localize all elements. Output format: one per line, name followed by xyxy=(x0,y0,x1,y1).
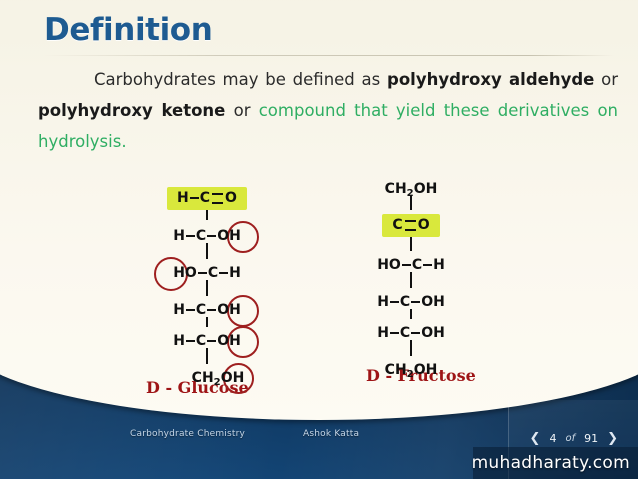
fructose-row-2-center: C xyxy=(392,217,402,233)
bond-single-icon xyxy=(207,309,216,311)
paragraph-bold-2: polyhydroxy ketone xyxy=(38,101,225,120)
bond-vertical-icon xyxy=(206,280,208,296)
footer-course-title: Carbohydrate Chemistry xyxy=(130,429,245,439)
fructose-row-3-center: C xyxy=(412,257,422,273)
slide-background-cream xyxy=(0,0,638,420)
glucose-row-3-right: H xyxy=(229,265,241,281)
glucose-row-3-left: HO xyxy=(173,265,197,281)
fructose-row-4-right: OH xyxy=(421,294,445,310)
fructose-row-5-center: C xyxy=(400,325,410,341)
bond-single-icon xyxy=(207,340,216,342)
fructose-row-2: CO xyxy=(336,213,486,238)
glucose-row-6-group: CH2OH xyxy=(192,370,245,386)
fructose-row-3: HOCH xyxy=(336,252,486,277)
bond-single-icon xyxy=(190,197,199,199)
page-title: Definition xyxy=(44,12,212,48)
glucose-row-5: HCOH xyxy=(132,328,282,353)
definition-paragraph: Carbohydrates may be defined as polyhydr… xyxy=(38,64,618,157)
bond-single-icon xyxy=(402,264,411,266)
fructose-row-2-group: CO xyxy=(382,214,439,237)
bond-double-icon xyxy=(405,220,416,231)
fructose-row-3-right: H xyxy=(433,257,445,273)
glucose-row-3: HOCH xyxy=(132,260,282,285)
glucose-row-5-left: H xyxy=(173,333,185,349)
bond-single-icon xyxy=(390,332,399,334)
slide-canvas: Definition Carbohydrates may be defined … xyxy=(0,0,638,479)
fructose-row-5-right: OH xyxy=(421,325,445,341)
total-page-count: 91 xyxy=(584,432,598,445)
glucose-row-5-right: OH xyxy=(217,333,241,349)
bond-vertical-icon xyxy=(206,317,208,327)
glucose-row-3-group: HOCH xyxy=(173,265,241,281)
footer-author-name: Ashok Katta xyxy=(303,429,359,439)
title-divider xyxy=(44,55,614,56)
bond-single-icon xyxy=(207,235,216,237)
glucose-row-2-left: H xyxy=(173,228,185,244)
pagination-control: ❮ 4 of 91 ❯ xyxy=(530,432,618,445)
bond-single-icon xyxy=(411,332,420,334)
fructose-row-1-group: CH2OH xyxy=(385,181,438,197)
bond-vertical-icon xyxy=(410,340,412,356)
bond-vertical-icon xyxy=(410,309,412,319)
next-page-icon[interactable]: ❯ xyxy=(607,432,618,445)
glucose-row-2: HCOH xyxy=(132,223,282,248)
glucose-row-4-group: HCOH xyxy=(173,302,241,318)
glucose-row-4-left: H xyxy=(173,302,185,318)
bond-double-icon xyxy=(212,193,223,204)
glucose-row-3-center: C xyxy=(208,265,218,281)
bond-single-icon xyxy=(186,309,195,311)
previous-page-icon[interactable]: ❮ xyxy=(530,432,541,445)
paragraph-bold-1: polyhydroxy aldehyde xyxy=(387,70,594,89)
glucose-row-1-right: O xyxy=(225,190,237,206)
fructose-row-4: HCOH xyxy=(336,289,486,314)
glucose-row-4-center: C xyxy=(196,302,206,318)
fructose-row-6-group: CH2OH xyxy=(385,362,438,378)
glucose-row-1-center: C xyxy=(200,190,210,206)
glucose-row-2-group: HCOH xyxy=(173,228,241,244)
glucose-row-5-group: HCOH xyxy=(173,333,241,349)
bond-single-icon xyxy=(186,340,195,342)
fructose-row-1: CH2OH xyxy=(336,176,486,201)
glucose-row-4: HCOH xyxy=(132,297,282,322)
fructose-row-4-center: C xyxy=(400,294,410,310)
bond-vertical-icon xyxy=(206,243,208,259)
bond-single-icon xyxy=(198,272,207,274)
glucose-row-4-right: OH xyxy=(217,302,241,318)
glucose-row-2-center: C xyxy=(196,228,206,244)
bond-vertical-icon xyxy=(206,348,208,364)
fructose-row-4-group: HCOH xyxy=(377,294,445,310)
fructose-row-5-left: H xyxy=(377,325,389,341)
glucose-row-1-group: HCO xyxy=(167,187,247,210)
bond-vertical-icon xyxy=(410,235,412,251)
bond-vertical-icon xyxy=(410,272,412,288)
pagination-of-label: of xyxy=(565,433,575,444)
structure-d-fructose: CH2OH CO HOCH HCOH xyxy=(336,176,486,382)
bond-single-icon xyxy=(390,301,399,303)
structure-d-glucose: HCO HCOH HOCH HCOH xyxy=(132,186,282,390)
glucose-row-1: HCO xyxy=(132,186,282,211)
site-watermark: muhadharaty.com xyxy=(472,453,630,473)
bond-single-icon xyxy=(423,264,432,266)
fructose-row-5-group: HCOH xyxy=(377,325,445,341)
paragraph-segment-2: or xyxy=(594,70,618,89)
bond-single-icon xyxy=(411,301,420,303)
glucose-row-5-center: C xyxy=(196,333,206,349)
bond-single-icon xyxy=(219,272,228,274)
fructose-row-4-left: H xyxy=(377,294,389,310)
glucose-row-2-right: OH xyxy=(217,228,241,244)
fructose-row-5: HCOH xyxy=(336,320,486,345)
paragraph-segment-3: or xyxy=(225,101,258,120)
fructose-row-2-right: O xyxy=(418,217,430,233)
fructose-row-3-left: HO xyxy=(377,257,401,273)
paragraph-segment-1: Carbohydrates may be defined as xyxy=(94,70,387,89)
current-page-number: 4 xyxy=(549,432,556,445)
fructose-row-3-group: HOCH xyxy=(377,257,445,273)
bond-single-icon xyxy=(186,235,195,237)
glucose-row-1-left: H xyxy=(177,190,189,206)
